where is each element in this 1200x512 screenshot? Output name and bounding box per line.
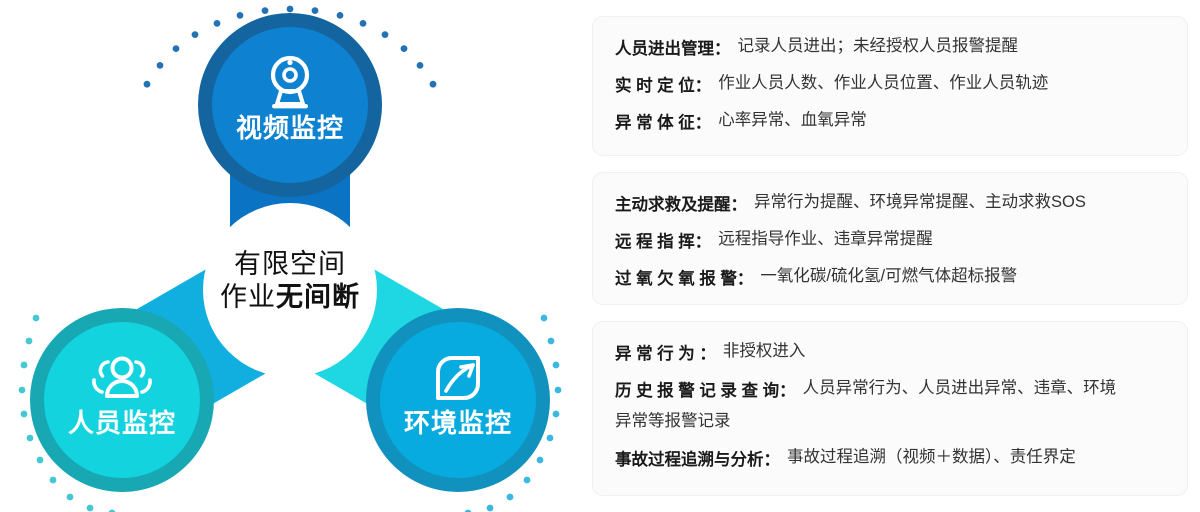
node-personnel[interactable] — [30, 308, 214, 492]
card-rescue-rows: 主动求救及提醒： 异常行为提醒、环境异常提醒、主动求救SOS 远 程 指 挥： … — [593, 173, 1187, 289]
row-label: 远 程 指 挥： — [615, 228, 711, 252]
info-cards: 人员进出管理： 记录人员进出；未经授权人员报警提醒 实 时 定 位： 作业人员人… — [592, 0, 1192, 512]
card-row: 历 史 报 警 记 录 查 询： 人员异常行为、人员进出异常、违章、环境 — [615, 377, 1167, 401]
row-label: 异 常 行 为 ： — [615, 340, 716, 364]
row-desc: 作业人员人数、作业人员位置、作业人员轨迹 — [711, 72, 1048, 95]
row-desc: 异常行为提醒、环境异常提醒、主动求救SOS — [747, 191, 1086, 214]
row-desc: 事故过程追溯（视频＋数据）、责任界定 — [780, 446, 1076, 469]
row-label: 实 时 定 位： — [615, 72, 711, 96]
card-row: 远 程 指 挥： 远程指导作业、违章异常提醒 — [615, 228, 1167, 252]
row-desc: 记录人员进出；未经授权人员报警提醒 — [731, 35, 1019, 58]
card-row: 人员进出管理： 记录人员进出；未经授权人员报警提醒 — [615, 35, 1167, 59]
center-line-1: 有限空间 — [190, 248, 390, 281]
row-desc: 人员异常行为、人员进出异常、违章、环境 — [796, 377, 1117, 400]
row-desc-continuation: 异常等报警记录 — [615, 410, 1167, 433]
node-label-personnel: 人员监控 — [47, 403, 197, 440]
row-label: 人员进出管理： — [615, 35, 731, 59]
row-desc: 心率异常、血氧异常 — [711, 109, 867, 132]
card-personnel: 人员进出管理： 记录人员进出；未经授权人员报警提醒 实 时 定 位： 作业人员人… — [592, 16, 1188, 156]
card-records: 异 常 行 为 ： 非授权进入 历 史 报 警 记 录 查 询： 人员异常行为、… — [592, 321, 1188, 496]
node-environment[interactable] — [366, 308, 550, 492]
node-video[interactable] — [198, 13, 382, 197]
center-line-2-strong: 无间断 — [276, 282, 360, 312]
row-desc: 远程指导作业、违章异常提醒 — [711, 228, 933, 251]
card-row: 事故过程追溯与分析： 事故过程追溯（视频＋数据）、责任界定 — [615, 446, 1167, 470]
card-row: 异 常 行 为 ： 非授权进入 — [615, 340, 1167, 364]
infographic-root: 视频监控 人员监控 环境监控 有限空间 作业无间断 人员进出管理： 记录人员进出… — [0, 0, 1200, 512]
node-label-video: 视频监控 — [215, 108, 365, 145]
row-label: 历 史 报 警 记 录 查 询： — [615, 377, 796, 401]
card-row: 主动求救及提醒： 异常行为提醒、环境异常提醒、主动求救SOS — [615, 191, 1167, 215]
card-row: 异 常 体 征： 心率异常、血氧异常 — [615, 109, 1167, 133]
row-desc: 非授权进入 — [716, 340, 806, 363]
row-label: 事故过程追溯与分析： — [615, 446, 780, 470]
row-label: 主动求救及提醒： — [615, 191, 747, 215]
card-row: 实 时 定 位： 作业人员人数、作业人员位置、作业人员轨迹 — [615, 72, 1167, 96]
card-rescue: 主动求救及提醒： 异常行为提醒、环境异常提醒、主动求救SOS 远 程 指 挥： … — [592, 172, 1188, 305]
pinwheel-diagram: 视频监控 人员监控 环境监控 有限空间 作业无间断 — [0, 0, 580, 512]
center-line-2-normal: 作业 — [220, 282, 276, 312]
card-personnel-rows: 人员进出管理： 记录人员进出；未经授权人员报警提醒 实 时 定 位： 作业人员人… — [593, 17, 1187, 133]
node-label-environment: 环境监控 — [383, 403, 533, 440]
card-row: 过 氧 欠 氧 报 警： 一氧化碳/硫化氢/可燃气体超标报警 — [615, 265, 1167, 289]
center-text-block: 有限空间 作业无间断 — [190, 248, 390, 314]
card-records-rows: 异 常 行 为 ： 非授权进入 历 史 报 警 记 录 查 询： 人员异常行为、… — [593, 322, 1187, 470]
row-label: 异 常 体 征： — [615, 109, 711, 133]
row-desc: 一氧化碳/硫化氢/可燃气体超标报警 — [753, 265, 1017, 288]
center-line-2: 作业无间断 — [190, 281, 390, 314]
row-label: 过 氧 欠 氧 报 警： — [615, 265, 753, 289]
